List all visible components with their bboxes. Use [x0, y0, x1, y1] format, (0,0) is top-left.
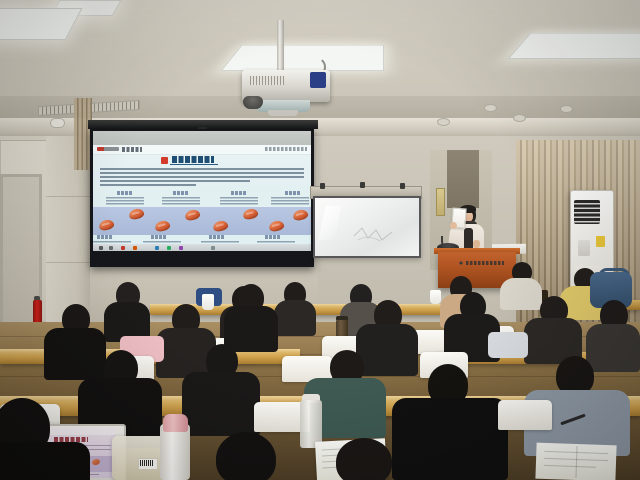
barcode-icon [140, 460, 154, 466]
timeline-year-desc [271, 197, 309, 206]
student-body [44, 328, 106, 380]
taskbar-app-icon[interactable] [179, 246, 183, 250]
slide-timeline-top-row [93, 191, 311, 207]
taskbar-app-icon[interactable] [133, 246, 137, 250]
whiteboard-clip-icon [400, 183, 405, 189]
timeline-year-label [231, 191, 247, 195]
alcove-recess [447, 150, 479, 208]
student-body [500, 278, 542, 310]
timeline-year-label [209, 235, 225, 239]
taskbar-app-icon[interactable] [167, 246, 171, 250]
podium-nameplate-text [466, 261, 504, 265]
air-conditioner-vent-grille [574, 200, 600, 224]
student-body [586, 324, 640, 372]
slide-title-bullet-icon [161, 157, 168, 164]
smoke-detector-icon [50, 118, 65, 128]
whiteboard-marker-traces [352, 222, 394, 244]
projected-slide [93, 145, 311, 251]
projector-vent [250, 76, 284, 85]
timeline-node-icon [268, 219, 285, 232]
student-body [224, 306, 278, 352]
slide-header-bar [93, 145, 311, 155]
projection-screen[interactable] [88, 120, 318, 272]
student-body [392, 398, 508, 480]
foreground-head [216, 432, 276, 480]
timeline-node-icon [212, 219, 229, 232]
timeline-year-desc [162, 197, 200, 206]
slide-title-underline [170, 164, 218, 165]
timeline-node-icon [128, 207, 145, 220]
air-conditioner-label [596, 236, 605, 247]
os-taskbar[interactable] [93, 244, 311, 251]
student-body [356, 324, 418, 376]
wall-seam [46, 262, 90, 263]
timeline-year-label [151, 235, 167, 239]
foreground-head [336, 438, 392, 480]
whiteboard-clip-icon [320, 183, 325, 189]
slide-title-row [161, 156, 249, 164]
timeline-year-label [97, 235, 113, 239]
timeline-year-desc [220, 197, 258, 206]
presenter-hand [473, 240, 480, 248]
timeline-year-label [117, 191, 133, 195]
classroom-photo [0, 0, 640, 480]
slide-title-text [172, 156, 214, 163]
timeline-node-icon [292, 208, 309, 221]
taskbar-app-icon[interactable] [155, 246, 159, 250]
slide-brand-logo-icon [97, 147, 119, 151]
student-body [274, 300, 316, 336]
taskbar-app-icon[interactable] [211, 246, 215, 250]
presenter-hand [450, 222, 457, 229]
timeline-node-icon [154, 219, 171, 232]
timeline-node-icon [91, 458, 100, 466]
foreground-body [0, 442, 90, 480]
projector-bracket [268, 110, 298, 116]
wall-banner [436, 188, 445, 216]
ceiling-speaker-icon [484, 104, 497, 112]
thermos-bottle [160, 424, 190, 480]
taskbar-app-icon[interactable] [121, 246, 125, 250]
timeline-node-icon [242, 207, 259, 220]
slide-brand-text [122, 147, 142, 152]
thermos-cap [163, 414, 188, 432]
whiteboard-clip-icon [360, 182, 365, 188]
ceiling-speaker-icon [560, 105, 573, 113]
folded-coat [488, 332, 528, 358]
student-body [182, 372, 260, 436]
timeline-node-icon [184, 208, 201, 221]
slide-body-text [93, 167, 311, 189]
taskbar-search-icon[interactable] [109, 246, 113, 250]
chair-back[interactable] [498, 400, 552, 430]
wall-seam [46, 196, 90, 197]
ceiling-speaker-icon [513, 114, 526, 122]
timeline-node-icon [98, 218, 115, 231]
timeline-year-label [265, 235, 281, 239]
paper-cup [430, 290, 441, 304]
timeline-year-desc [106, 197, 144, 206]
ceiling-speaker-icon [437, 118, 450, 126]
slide-header-subtitle [265, 147, 307, 151]
timeline-year-label [285, 191, 301, 195]
projector-port-block [310, 72, 326, 88]
slide-timeline-band [93, 207, 311, 235]
air-conditioner-display-panel[interactable] [578, 240, 590, 256]
institution-emblem-icon [458, 260, 464, 266]
taskbar-start-icon[interactable] [99, 246, 103, 250]
paper-cup [202, 294, 214, 310]
projector-mount-pole [277, 20, 284, 74]
dome-camera-icon [243, 96, 263, 109]
led-panel-right-light [508, 33, 640, 59]
timeline-year-label [173, 191, 189, 195]
open-notebook [535, 443, 616, 480]
